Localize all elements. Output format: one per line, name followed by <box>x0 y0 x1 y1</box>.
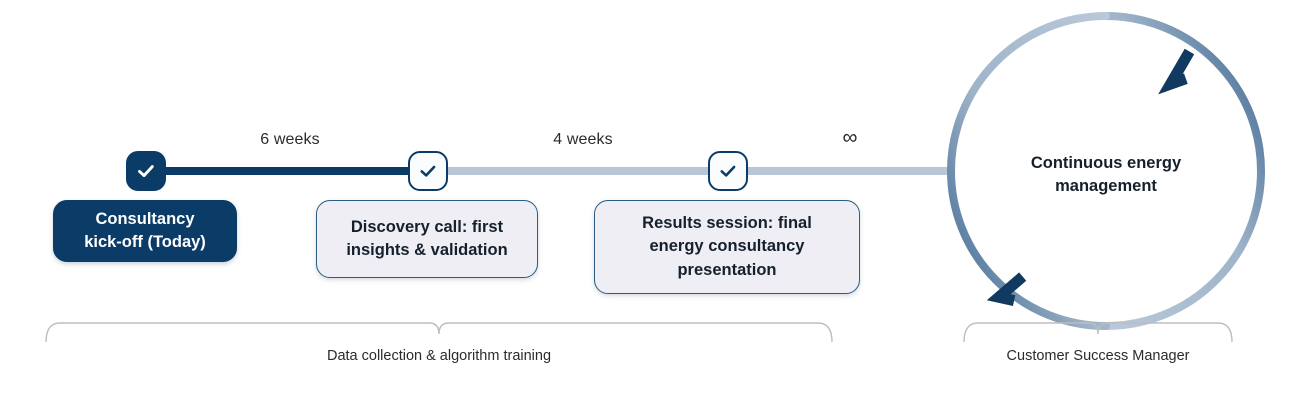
check-icon <box>417 160 439 182</box>
rail-segment-discovery-to-results <box>424 167 731 175</box>
check-icon <box>717 160 739 182</box>
milestone-node-results[interactable] <box>708 151 748 191</box>
interval-label-4-weeks: 4 weeks <box>508 131 658 149</box>
rail-segment-results-to-cycle <box>725 167 953 175</box>
timeline-diagram: 6 weeks 4 weeks ∞ Consultancy kick-off (… <box>0 0 1300 401</box>
rail-segment-completed <box>145 167 430 175</box>
milestone-card-results[interactable]: Results session: final energy consultanc… <box>594 200 860 294</box>
milestone-node-kickoff[interactable] <box>126 151 166 191</box>
bracket-phase-ongoing <box>962 320 1234 344</box>
milestone-card-discovery[interactable]: Discovery call: first insights & validat… <box>316 200 538 278</box>
bracket-caption-phase-ongoing: Customer Success Manager <box>898 348 1298 364</box>
bracket-phase-delivery <box>44 320 834 344</box>
milestone-node-discovery[interactable] <box>408 151 448 191</box>
interval-label-6-weeks: 6 weeks <box>215 131 365 149</box>
bracket-caption-phase-delivery: Data collection & algorithm training <box>239 348 639 364</box>
milestone-card-kickoff[interactable]: Consultancy kick-off (Today) <box>53 200 237 262</box>
cycle-label: Continuous energy management <box>1012 152 1200 199</box>
check-icon <box>135 160 157 182</box>
interval-label-infinity: ∞ <box>790 130 910 146</box>
